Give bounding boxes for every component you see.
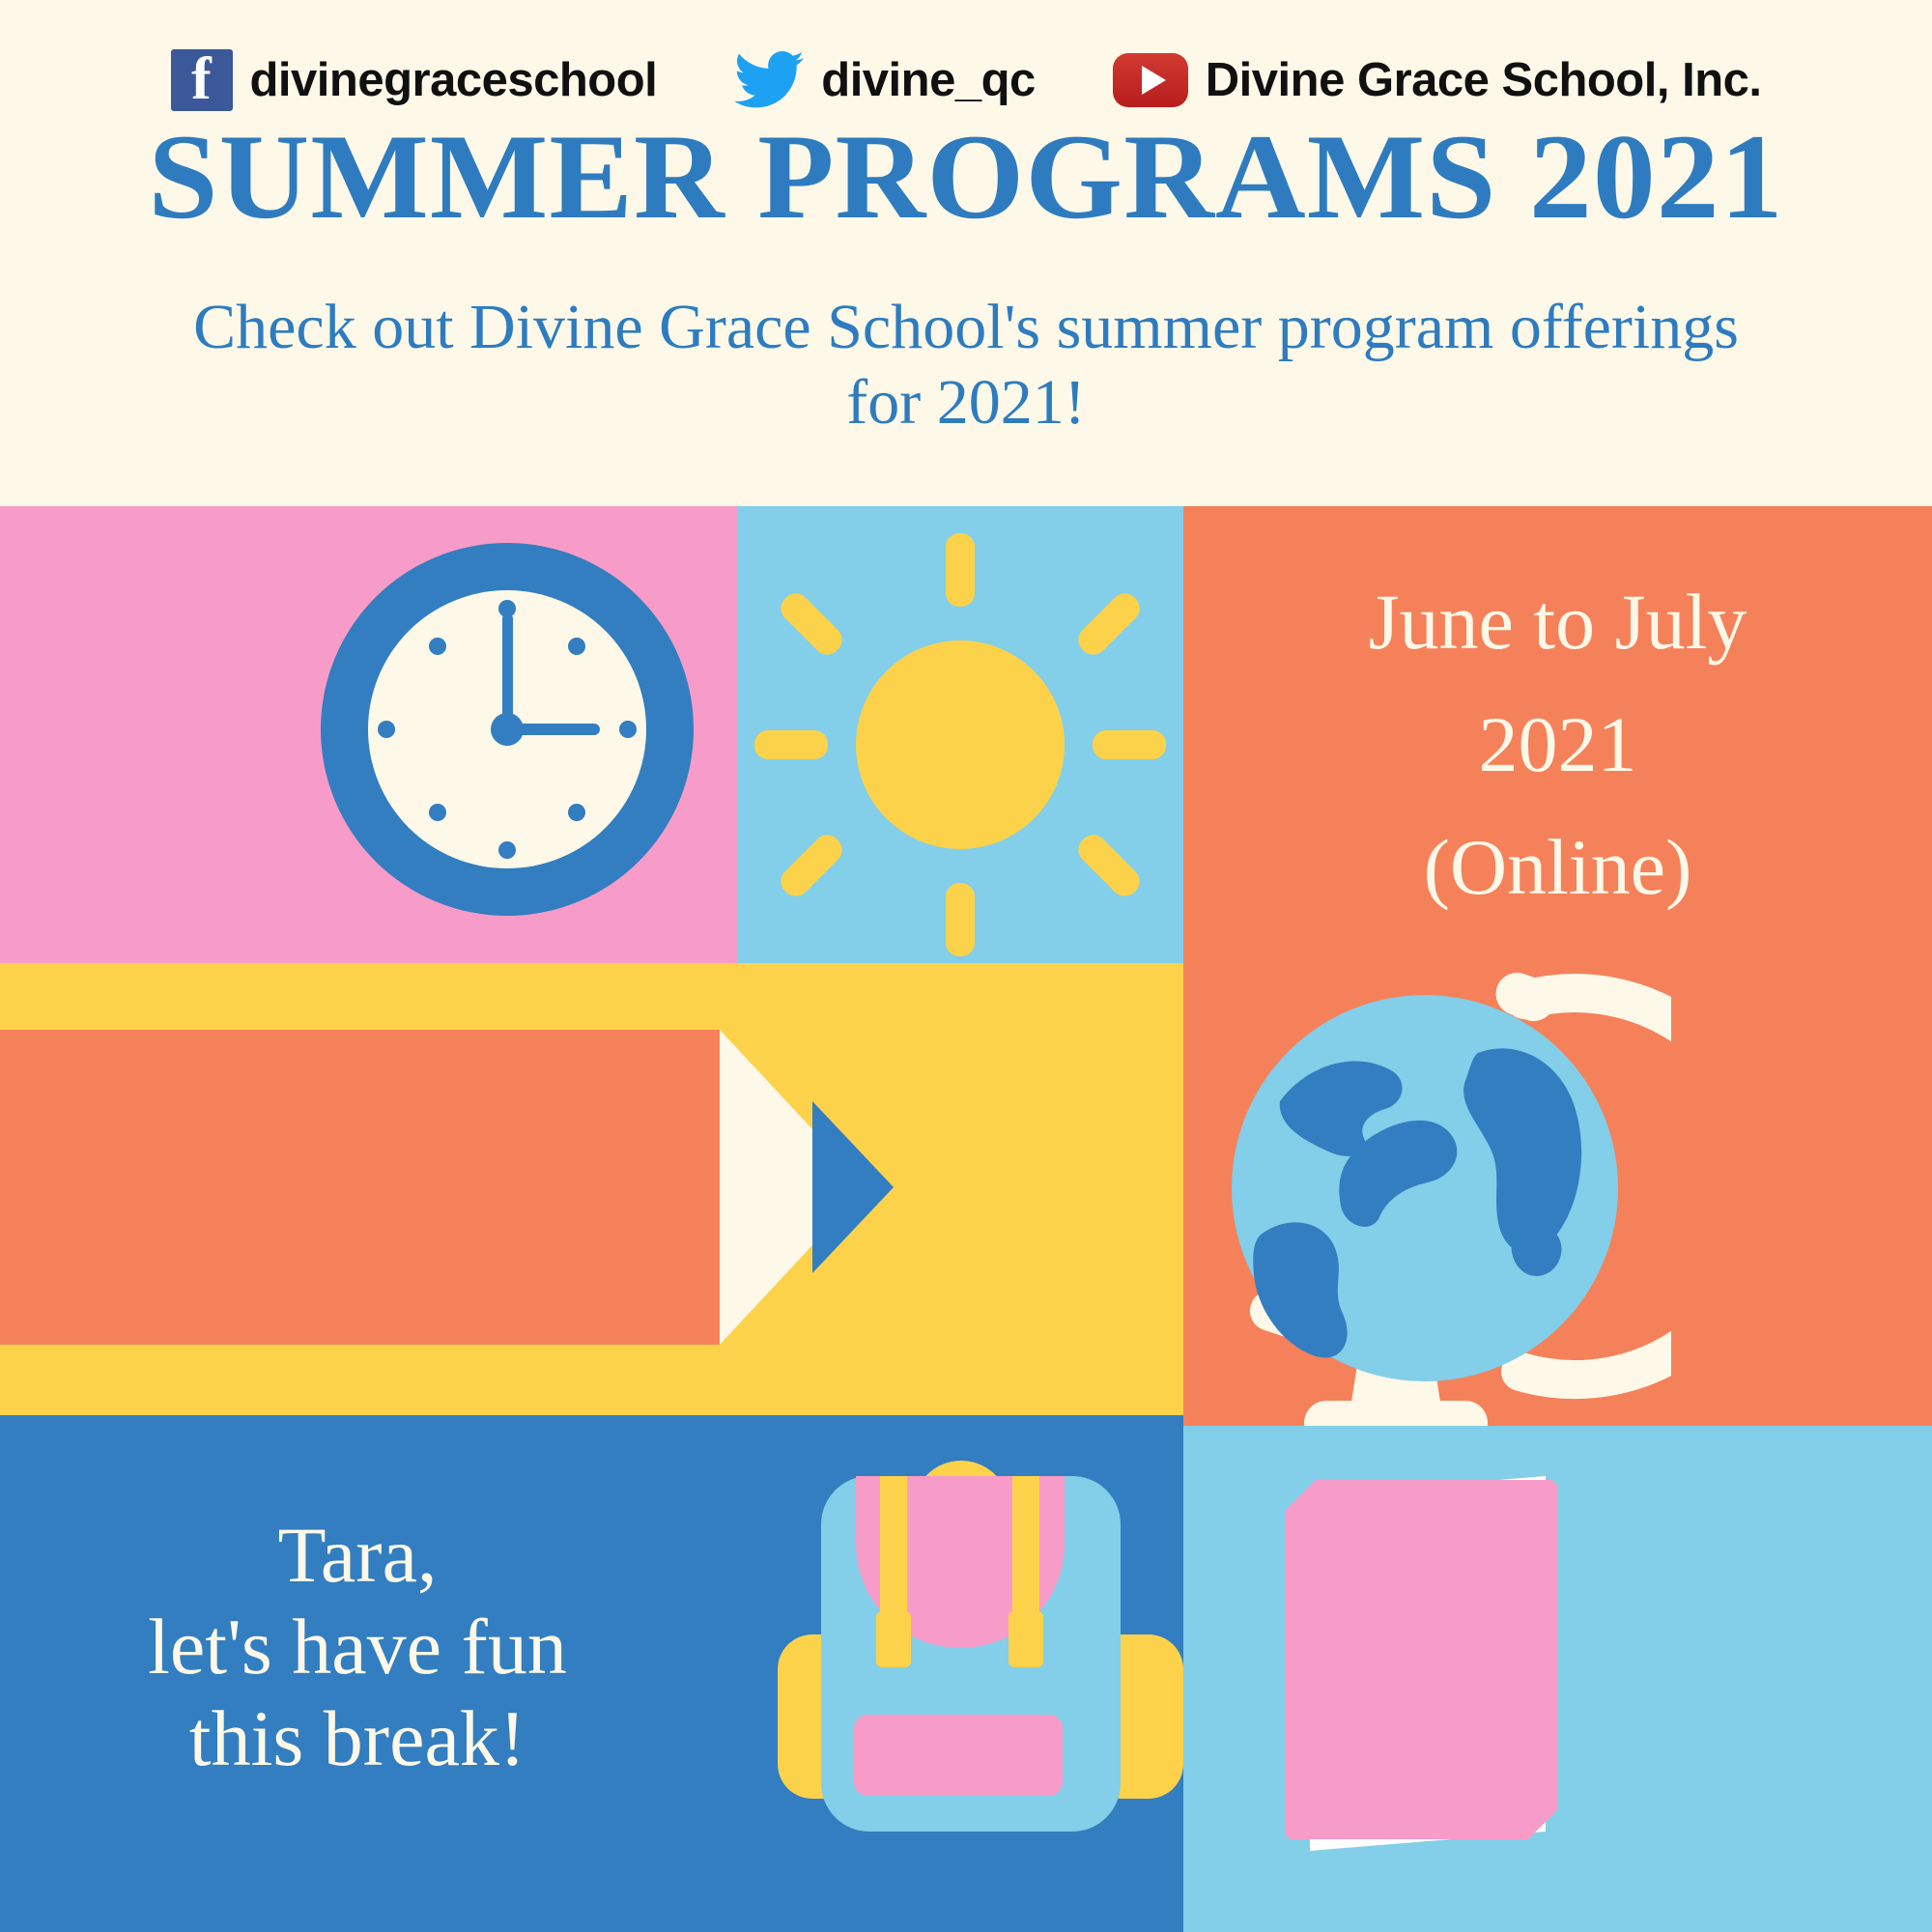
sun-ray-nw [776,588,848,661]
sun-ray-w [754,730,828,759]
pencil-icon [0,963,1183,1415]
youtube-icon [1113,53,1188,107]
sun-ray-s [946,883,975,956]
poster-root: divinegraceschool divine_qc Divine Grace… [0,0,1932,1932]
globe-icon [1188,947,1671,1426]
clock-center-hub [491,713,524,746]
social-link-facebook[interactable]: divinegraceschool [171,49,658,111]
sun-ray-e [1093,730,1166,759]
pencil-tip [812,1101,894,1273]
header: divinegraceschool divine_qc Divine Grace… [0,0,1932,506]
social-link-youtube[interactable]: Divine Grace School, Inc. [1113,53,1762,107]
page-title: SUMMER PROGRAMS 2021 [0,116,1932,241]
panel-message: Tara, let's have fun this break! [0,1415,1183,1932]
sun-ray-se [1073,830,1146,902]
facebook-icon [171,49,233,111]
sun-core [856,640,1065,849]
panel-clock [0,506,737,963]
sun-icon [737,506,1183,963]
clock-face [368,590,646,868]
youtube-handle: Divine Grace School, Inc. [1206,53,1762,107]
sun-ray-sw [776,830,848,902]
panel-sun [737,506,1183,963]
clock-icon [321,543,694,916]
sun-ray-ne [1073,588,1146,661]
date-text: June to July 2021 (Online) [1183,560,1932,928]
panel-book [1183,1426,1932,1932]
page-subtitle: Check out Divine Grace School's summer p… [0,290,1932,440]
message-text: Tara, let's have fun this break! [0,1509,715,1784]
facebook-handle: divinegraceschool [250,53,658,107]
panel-pencil [0,963,1183,1415]
social-link-twitter[interactable]: divine_qc [734,50,1036,110]
twitter-icon [734,50,804,110]
sun-ray-n [946,533,975,607]
twitter-handle: divine_qc [821,53,1036,107]
pencil-body [0,1030,720,1345]
backpack-icon [753,1420,1183,1932]
panel-date: June to July 2021 (Online) [1183,506,1932,1426]
book-icon [1188,1426,1671,1932]
